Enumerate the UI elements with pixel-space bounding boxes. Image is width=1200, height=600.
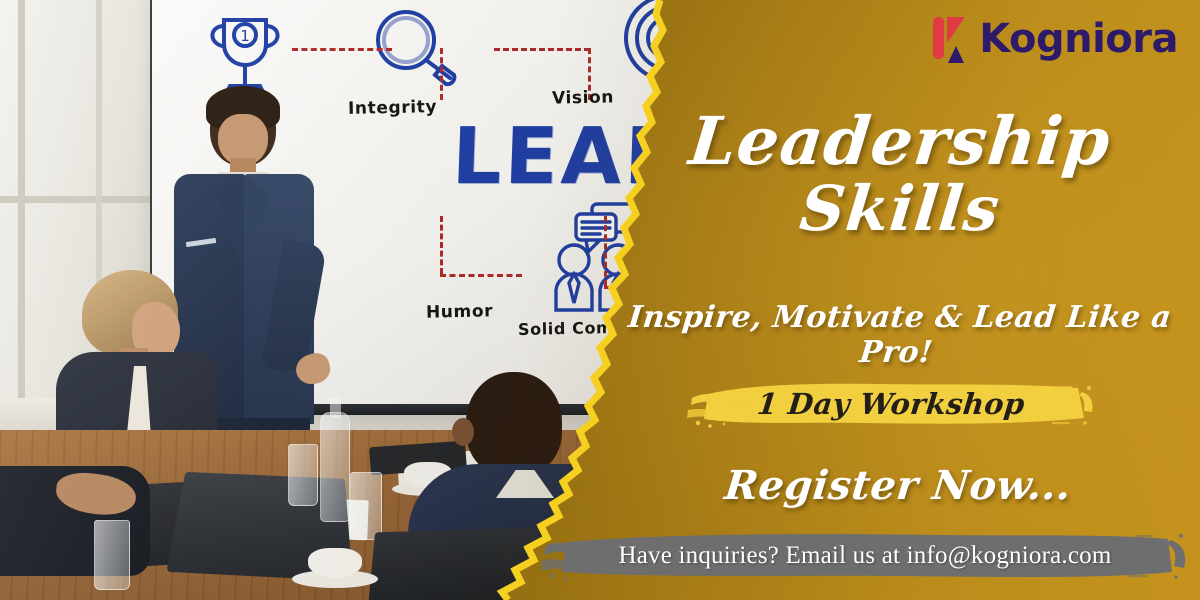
title-line-1: Leadership [596,108,1200,175]
register-cta[interactable]: Register Now... [594,462,1200,509]
kogniora-k-mark [931,13,977,65]
page-title: Leadership Skills [600,108,1200,241]
tagline: Inspire, Motivate & Lead Like a Pro! [592,300,1200,370]
contact-text: Have inquiries? Email us at info@kognior… [540,530,1190,582]
workshop-badge-label: 1 Day Workshop [683,378,1098,430]
brand-logo[interactable]: Kogniora [931,10,1178,68]
title-line-2: Skills [597,177,1200,240]
brand-logo-text: Kogniora [979,19,1178,59]
event-banner: 1 [0,0,1200,600]
